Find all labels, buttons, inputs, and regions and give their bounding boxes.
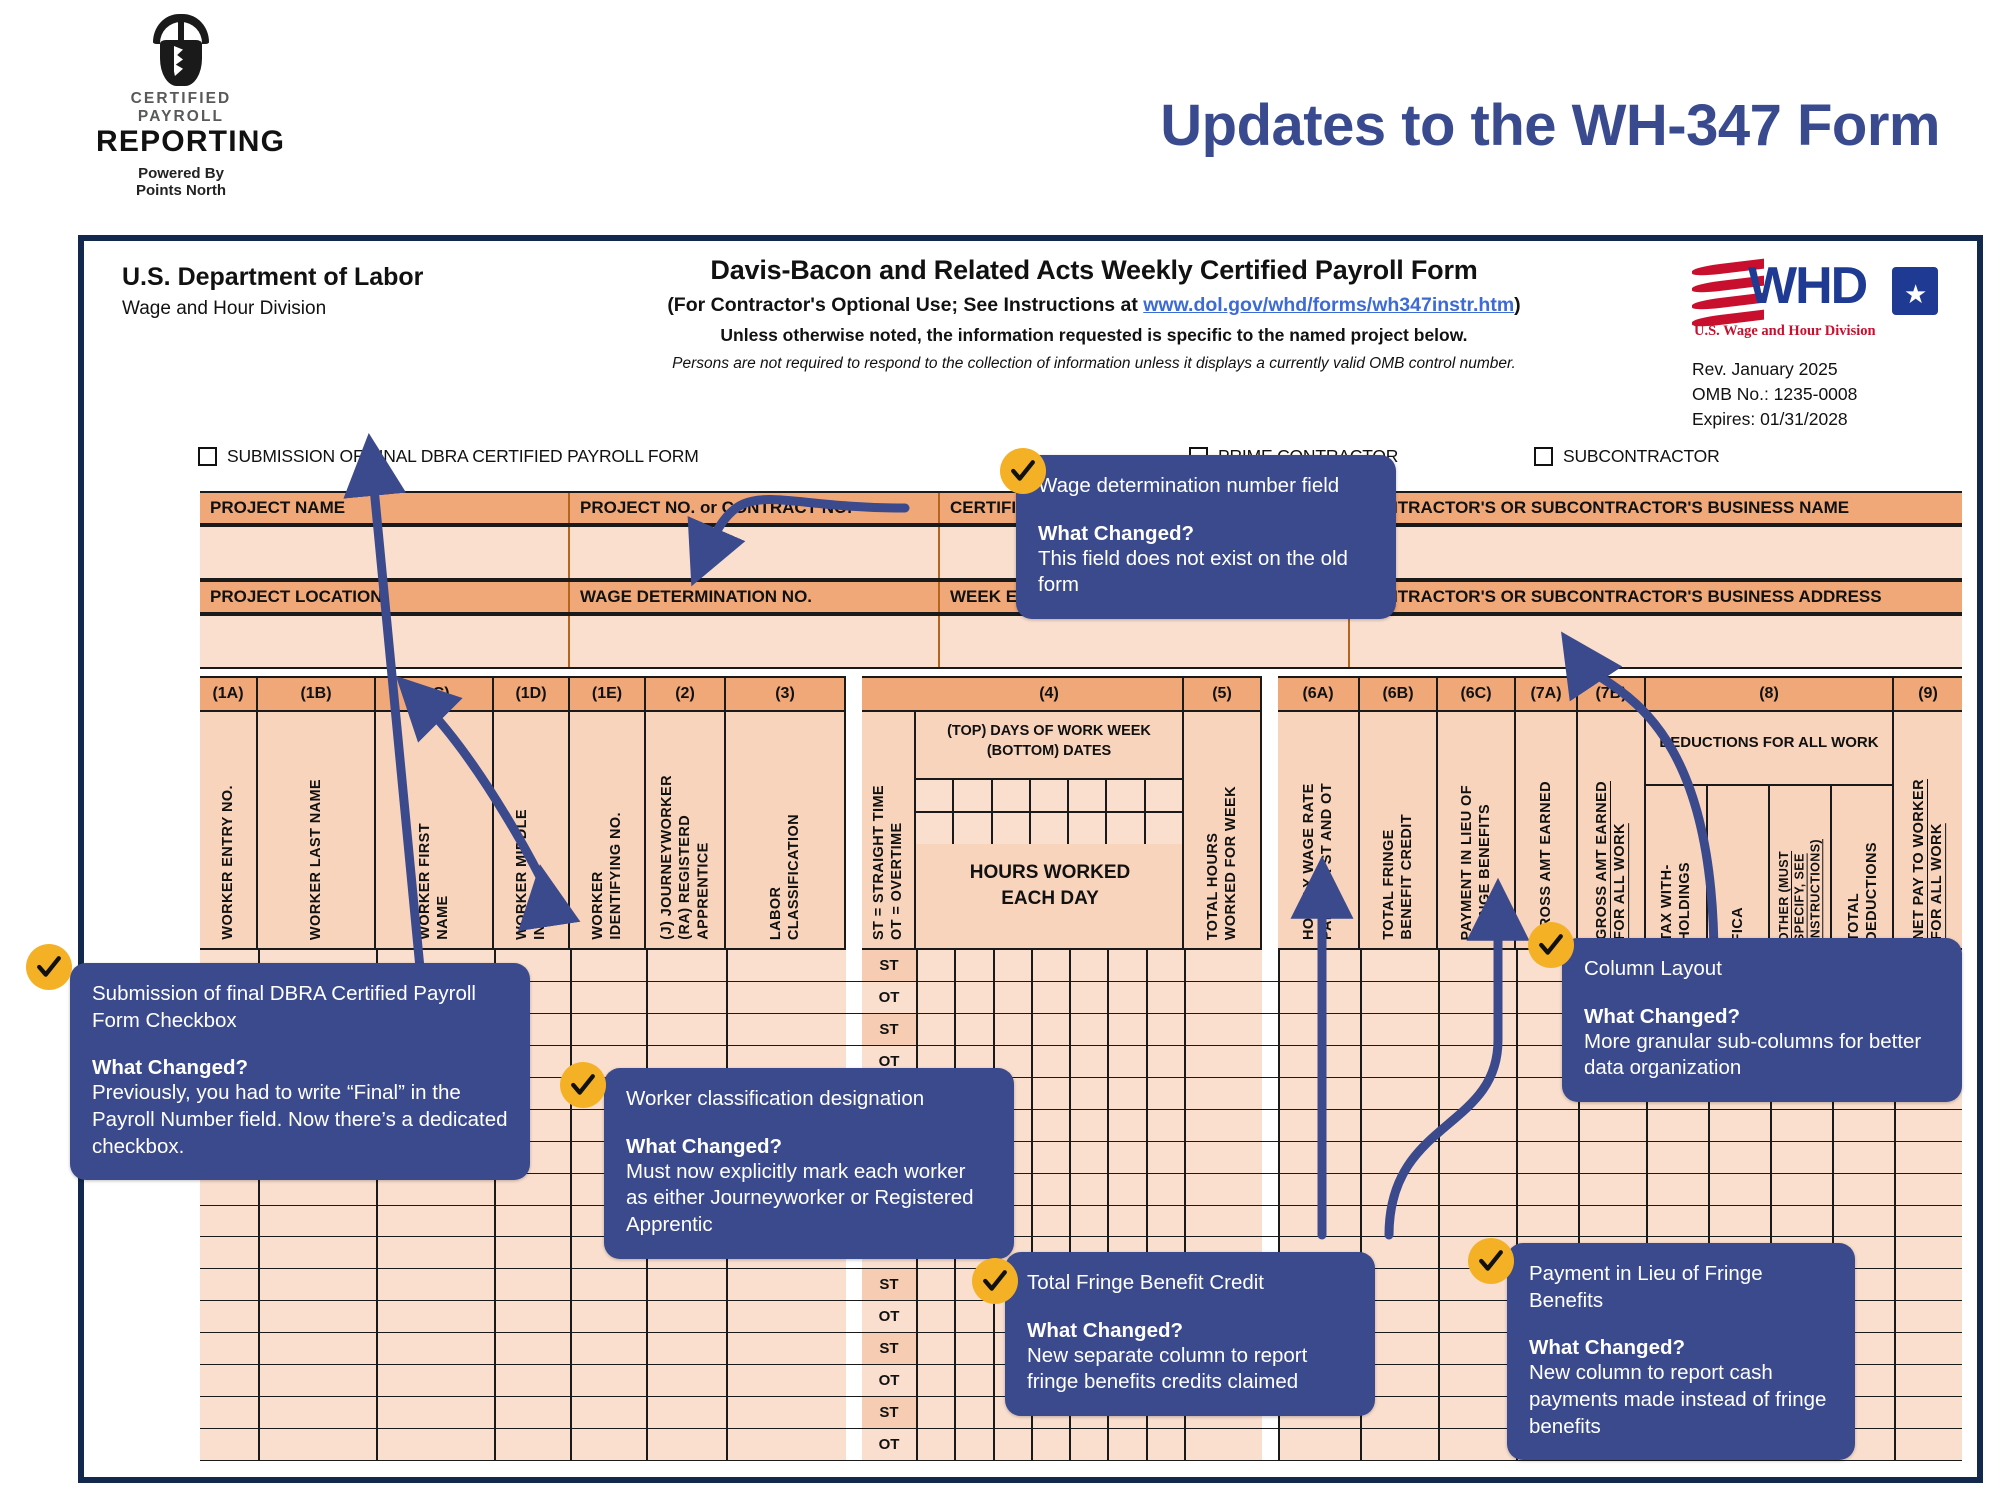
deduction-fica: FICA [1729,907,1747,942]
check-icon [36,954,62,980]
star-icon: ★ [1904,279,1927,310]
collabel-labor-classification: LABOR CLASSIFICATION [767,814,803,940]
check-icon [1010,458,1036,484]
checkbox-label: SUBCONTRACTOR [1563,446,1720,467]
brand-line-reporting: REPORTING [96,125,266,159]
check-icon [1538,932,1564,958]
row-marker-ot: OT [862,1301,916,1333]
row-marker-ot: OT [862,1365,916,1397]
day-cell[interactable] [954,778,992,811]
hours-top-label: (TOP) DAYS OF WORK WEEK [916,722,1182,742]
hard-hat-worker-icon [149,14,213,86]
deductions-block: DEDUCTIONS FOR ALL WORK TAX WITH- HOLDIN… [1646,712,1894,950]
field-input-week-ending[interactable] [940,616,1350,667]
callout-title: Column Layout [1584,956,1940,983]
whd-tagline: U.S. Wage and Hour Division [1694,323,1876,340]
day-cell[interactable] [1031,778,1069,811]
callout-wage-determination: Wage determination number field What Cha… [1016,455,1396,619]
whd-mark: WHD [1748,257,1866,315]
column-number-row: (1A) (1B) (1C) (1D) (1E) (2) (3) (4) (5)… [200,676,1962,712]
collabel-gross-amt-earned: GROSS AMT EARNED [1537,781,1555,940]
hours-caption-2: EACH DAY [916,886,1184,912]
field-input-project-no[interactable] [570,527,940,578]
day-cell[interactable] [916,811,954,844]
form-note: Unless otherwise noted, the information … [524,325,1664,346]
callout-body: Must now explicitly mark each worker as … [626,1159,992,1239]
field-input-business-address[interactable] [1350,616,1962,667]
callout-check-badge [972,1258,1018,1304]
info-input-row-2 [200,614,1962,669]
callout-question: What Changed? [1038,522,1374,546]
row-marker-st: ST [862,1014,916,1046]
callout-body: This field does not exist on the old for… [1038,546,1374,599]
callout-title: Submission of final DBRA Certified Payro… [92,981,508,1034]
check-icon [1478,1248,1504,1274]
callout-check-badge [1468,1238,1514,1284]
callout-question: What Changed? [1027,1319,1353,1343]
deduction-other: OTHER (MUST SPECIFY, SEE INSTRUCTIONS) [1777,839,1824,942]
checkbox-label: SUBMISSION OF FINAL DBRA CERTIFIED PAYRO… [227,446,699,467]
colnum-3: (3) [726,676,846,712]
brand-points-north: Points North [96,183,266,200]
row-marker-st: ST [862,1397,916,1429]
row-marker-st: ST [862,1269,916,1301]
colnum-7a: (7A) [1516,676,1578,712]
colnum-1a: (1A) [200,676,258,712]
callout-body: New separate column to report fringe ben… [1027,1343,1353,1396]
collabel-hourly-wage-rate: HOURLY WAGE RATE PAID FOR ST AND OT [1300,783,1336,940]
callout-payment-in-lieu-of-fringe: Payment in Lieu of Fringe Benefits What … [1507,1243,1855,1460]
colnum-6a: (6A) [1278,676,1360,712]
day-cell[interactable] [1069,811,1107,844]
dol-agency-title: U.S. Department of Labor [122,263,423,292]
form-subtitle: (For Contractor's Optional Use; See Inst… [524,294,1664,317]
callout-body: Previously, you had to write “Final” in … [92,1080,508,1160]
callout-question: What Changed? [1529,1336,1833,1360]
day-cell[interactable] [1069,778,1107,811]
hours-caption-1: HOURS WORKED [916,860,1184,886]
callout-check-badge [560,1062,606,1108]
collabel-journeyworker-apprentice: (J) JOURNEYWORKER (RA) REGISTERD APPRENT… [658,775,712,940]
form-subtitle-suffix: ) [1514,294,1521,316]
colnum-2: (2) [646,676,726,712]
checkbox-final-submission[interactable]: SUBMISSION OF FINAL DBRA CERTIFIED PAYRO… [198,446,699,467]
field-label-project-no: PROJECT NO. or CONTRACT NO. [570,493,940,523]
callout-check-badge [1000,448,1046,494]
column-label-row: WORKER ENTRY NO. WORKER LAST NAME WORKER… [200,712,1962,950]
callout-title: Worker classification designation [626,1086,992,1113]
colnum-1e: (1E) [570,676,646,712]
colnum-6b: (6B) [1360,676,1438,712]
collabel-total-hours-week: TOTAL HOURS WORKED FOR WEEK [1204,786,1240,940]
row-marker-ot: OT [862,1429,916,1461]
day-cell[interactable] [916,778,954,811]
callout-final-submission-checkbox: Submission of final DBRA Certified Payro… [70,963,530,1180]
collabel-worker-first-name: WORKER FIRST NAME [416,823,452,940]
day-cell[interactable] [1031,811,1069,844]
callout-body: New column to report cash payments made … [1529,1360,1833,1440]
callout-title: Payment in Lieu of Fringe Benefits [1529,1261,1833,1314]
table-row[interactable] [200,1206,1962,1238]
callout-title: Total Fringe Benefit Credit [1027,1270,1353,1297]
check-icon [570,1072,596,1098]
callout-column-layout: Column Layout What Changed? More granula… [1562,938,1962,1102]
collabel-worker-identifying-no: WORKER IDENTIFYING NO. [589,812,625,940]
form-subtitle-prefix: (For Contractor's Optional Use; See Inst… [667,294,1143,316]
checkbox-icon[interactable] [1534,447,1553,466]
day-cell[interactable] [954,811,992,844]
field-input-wage-determination-no[interactable] [570,616,940,667]
collabel-net-pay-all-work: NET PAY TO WORKER FOR ALL WORK [1910,779,1946,940]
callout-question: What Changed? [626,1135,992,1159]
form-omb-no: OMB No.: 1235-0008 [1692,382,1937,407]
checkbox-subcontractor[interactable]: SUBCONTRACTOR [1534,446,1720,467]
field-label-wage-determination-no: WAGE DETERMINATION NO. [570,582,940,612]
colnum-6c: (6C) [1438,676,1516,712]
callout-total-fringe-benefit-credit: Total Fringe Benefit Credit What Changed… [1005,1252,1375,1416]
callout-body: More granular sub-columns for better dat… [1584,1029,1940,1082]
callout-question: What Changed? [92,1056,508,1080]
hours-bottom-label: (BOTTOM) DATES [916,742,1182,762]
day-cell[interactable] [1146,778,1184,811]
colnum-st-ot [862,676,916,712]
collabel-gross-amt-earned-all-work: GROSS AMT EARNED FOR ALL WORK [1593,781,1629,940]
checkbox-icon[interactable] [198,447,217,466]
field-label-project-location: PROJECT LOCATION [200,582,570,612]
field-input-project-location[interactable] [200,616,570,667]
colnum-9: (9) [1894,676,1962,712]
field-input-project-name[interactable] [200,527,570,578]
row-marker-st: ST [862,1333,916,1365]
colnum-7b: (7B) [1578,676,1646,712]
page-title: Updates to the WH-347 Form [780,92,1940,159]
collabel-payment-in-lieu-fringe: PAYMENT IN LIEU OF FRINGE BENEFITS [1458,785,1494,940]
colnum-4: (4) [916,676,1184,712]
check-icon [982,1268,1008,1294]
brand-line-certified-payroll: CERTIFIED PAYROLL [96,90,266,126]
brand-logo: CERTIFIED PAYROLL REPORTING Powered By P… [96,14,266,200]
collabel-worker-entry-no: WORKER ENTRY NO. [219,785,237,940]
collabel-st-ot: ST = STRAIGHT TIME OT = OVERTIME [870,785,906,940]
callout-title: Wage determination number field [1038,473,1374,500]
deduction-tax-withholdings: TAX WITH- HOLDINGS [1658,862,1694,942]
deductions-heading: DEDUCTIONS FOR ALL WORK [1659,734,1878,751]
form-title: Davis-Bacon and Related Acts Weekly Cert… [524,255,1664,286]
day-cell[interactable] [993,778,1031,811]
colnum-1c: (1C) [376,676,494,712]
brand-powered-by: Powered By [96,166,266,183]
day-cell[interactable] [1107,811,1145,844]
field-input-business-name[interactable] [1350,527,1962,578]
day-cell[interactable] [1146,811,1184,844]
callout-check-badge [26,944,72,990]
day-cell[interactable] [993,811,1031,844]
field-label-project-name: PROJECT NAME [200,493,570,523]
callout-question: What Changed? [1584,1005,1940,1029]
day-cell[interactable] [1107,778,1145,811]
colnum-1d: (1D) [494,676,570,712]
field-label-business-address: CONTRACTOR'S OR SUBCONTRACTOR'S BUSINESS… [1350,582,1962,612]
callout-check-badge [1528,922,1574,968]
dol-division-subtitle: Wage and Hour Division [122,298,326,320]
form-revision: Rev. January 2025 [1692,357,1937,382]
collabel-total-fringe-benefit-credit: TOTAL FRINGE BENEFIT CREDIT [1380,814,1416,940]
row-marker-st: ST [862,950,916,982]
collabel-worker-middle-initial: WORKER MIDDLE INITIAL [513,809,549,940]
whd-logo-block: WHD ★ U.S. Wage and Hour Division Rev. J… [1692,257,1937,432]
hours-worked-block: (TOP) DAYS OF WORK WEEK (BOTTOM) DATES H… [916,712,1184,950]
form-expires: Expires: 01/31/2028 [1692,407,1937,432]
deduction-total: TOTAL DEDUCTIONS [1845,842,1881,942]
colnum-1b: (1B) [258,676,376,712]
callout-worker-classification: Worker classification designation What C… [604,1068,1014,1259]
form-omb-note: Persons are not required to respond to t… [524,355,1664,373]
field-label-business-name: CONTRACTOR'S OR SUBCONTRACTOR'S BUSINESS… [1350,493,1962,523]
collabel-worker-last-name: WORKER LAST NAME [307,779,325,940]
colnum-8: (8) [1646,676,1894,712]
colnum-5: (5) [1184,676,1262,712]
row-marker-ot: OT [862,982,916,1014]
instructions-link[interactable]: www.dol.gov/whd/forms/wh347instr.htm [1143,294,1514,316]
